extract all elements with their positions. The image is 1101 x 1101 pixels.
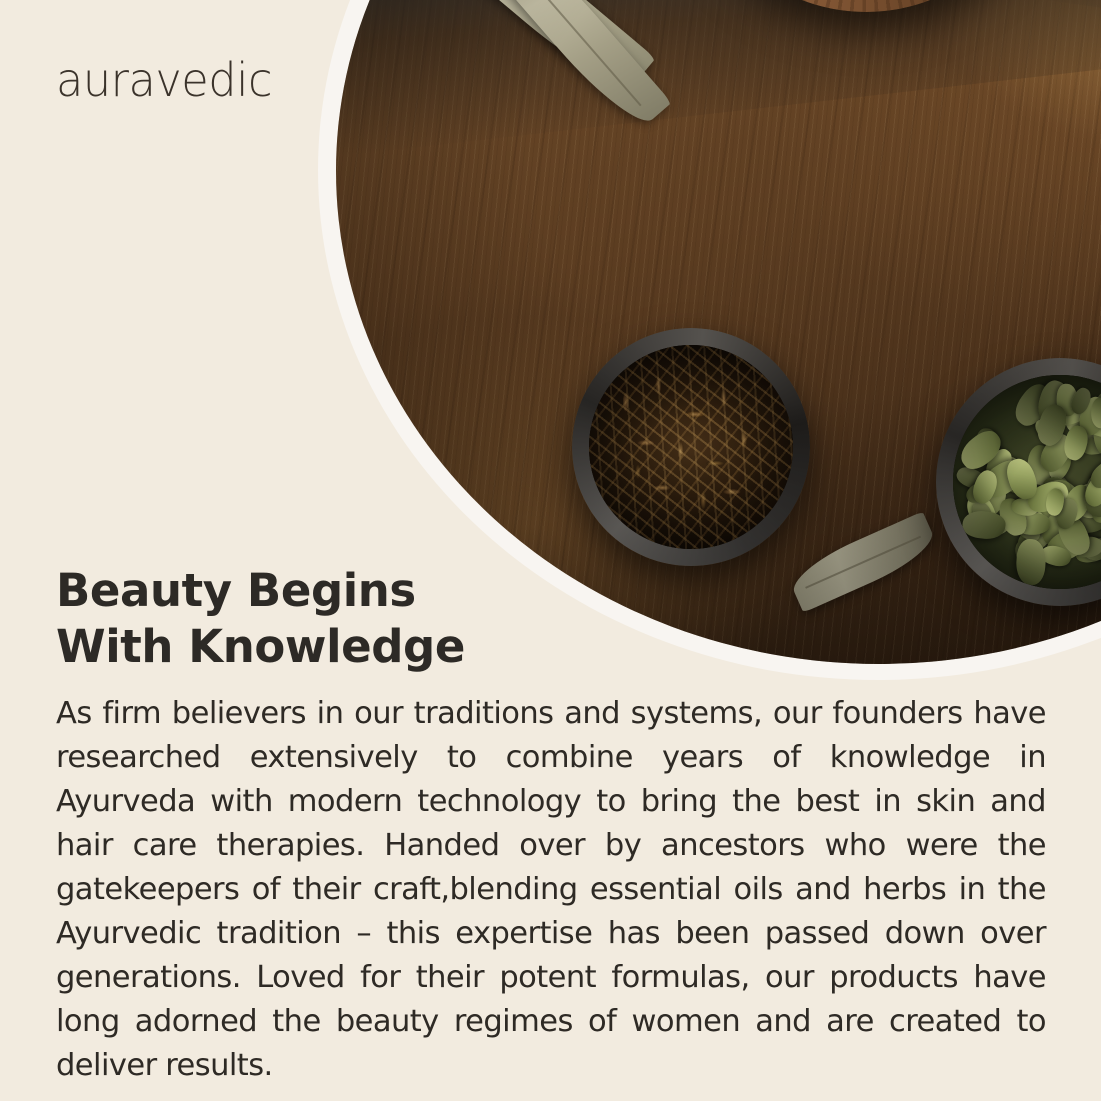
about-paragraph: As firm believers in our traditions and … <box>56 692 1046 1088</box>
page-title: Beauty Begins With Knowledge <box>56 563 676 675</box>
brand-logo: auravedic <box>56 53 272 107</box>
page-title-line-1: Beauty Begins <box>56 563 676 619</box>
about-paragraph-text: As firm believers in our traditions and … <box>56 692 1046 1088</box>
page-title-line-2: With Knowledge <box>56 619 676 675</box>
ayurveda-brand-banner: auravedic Beauty Begins With Knowledge A… <box>0 0 1101 1101</box>
